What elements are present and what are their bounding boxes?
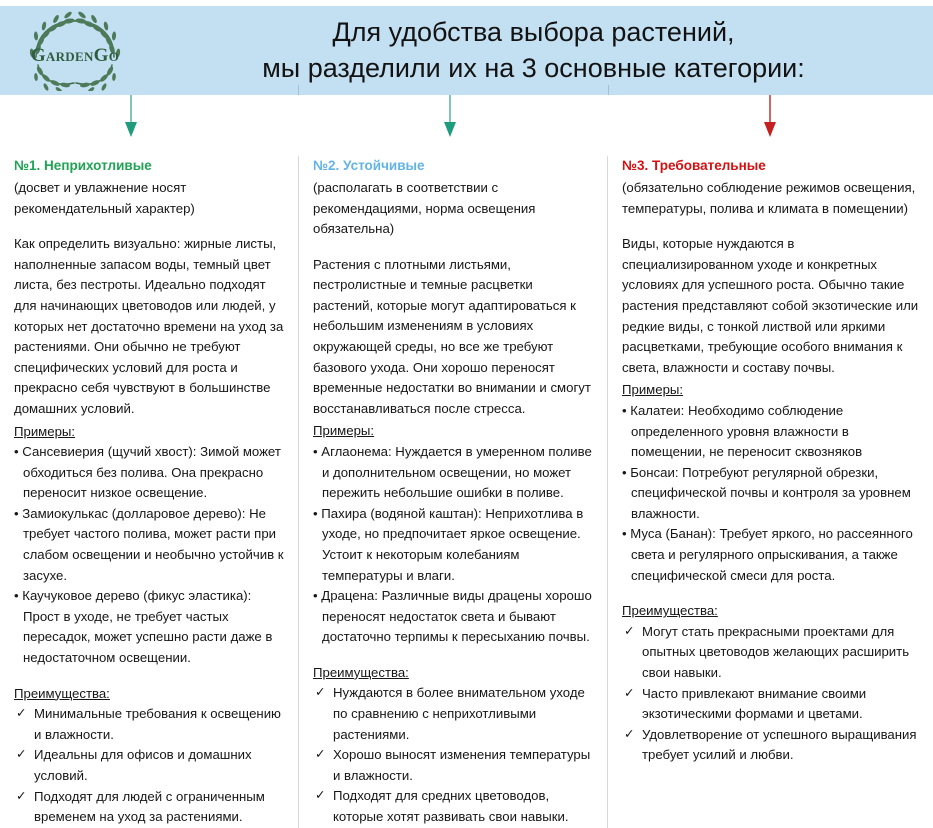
list-item-label: Подходят для средних цветоводов, которые…: [333, 788, 569, 824]
check-icon: ✓: [315, 683, 325, 703]
list-item-label: Подходят для людей с ограниченным времен…: [34, 789, 265, 825]
list-item: ✓Подходят для средних цветоводов, которы…: [313, 786, 593, 827]
category-columns: №1. Неприхотливые (досвет и увлажнение н…: [0, 156, 933, 828]
list-item-label: Хорошо выносят изменения температуры и в…: [333, 747, 590, 783]
list-item: Драцена: Различные виды драцены хорошо п…: [313, 586, 593, 648]
check-icon: ✓: [16, 704, 26, 724]
category-3-advantages: Преимущества: ✓Могут стать прекрасными п…: [622, 601, 919, 766]
check-icon: ✓: [16, 787, 26, 807]
list-item: ✓Минимальные требования к освещению и вл…: [14, 704, 284, 745]
arrow-down-category-2: [437, 95, 463, 140]
page-title-line-2: мы разделили их на 3 основные категории:: [150, 51, 917, 87]
list-item: Замиокулькас (долларовое дерево): Не тре…: [14, 504, 284, 586]
list-item-label: Могут стать прекрасными проектами для оп…: [642, 624, 909, 680]
list-item: Аглаонема: Нуждается в умеренном поливе …: [313, 442, 593, 504]
category-3-description: Виды, которые нуждаются в специализирова…: [622, 234, 919, 378]
list-item-label: Нуждаются в более внимательном уходе по …: [333, 685, 585, 741]
list-item: ✓Подходят для людей с ограниченным време…: [14, 787, 284, 828]
list-item: Бонсаи: Потребуют регулярной обрезки, сп…: [622, 463, 919, 525]
category-2-description: Растения с плотными листьями, пестролист…: [313, 255, 593, 420]
list-item: Муса (Банан): Требует яркого, но рассеян…: [622, 524, 919, 586]
list-item: ✓Удовлетворение от успешного выращивания…: [622, 725, 919, 766]
list-item-label: Удовлетворение от успешного выращивания …: [642, 727, 917, 763]
check-icon: ✓: [16, 745, 26, 765]
list-item: Каучуковое дерево (фикус эластика): Прос…: [14, 586, 284, 668]
list-item: ✓Хорошо выносят изменения температуры и …: [313, 745, 593, 786]
category-2-advantages-label: Преимущества:: [313, 663, 593, 684]
category-3-subtitle: (обязательно соблюдение режимов освещени…: [622, 178, 919, 219]
arrow-down-category-1: [118, 95, 144, 140]
band-divider-tick-2: [608, 85, 609, 95]
category-2-advantages-list: ✓Нуждаются в более внимательном уходе по…: [313, 683, 593, 827]
header-banner: GardenGo Для удобства выбора растений, м…: [0, 6, 933, 95]
category-1-examples-label: Примеры:: [14, 422, 284, 443]
list-item-label: Идеальны для офисов и домашних условий.: [34, 747, 252, 783]
check-icon: ✓: [624, 725, 634, 745]
category-1-advantages-label: Преимущества:: [14, 684, 284, 705]
page-title-line-1: Для удобства выбора растений,: [150, 15, 917, 51]
category-arrows: [0, 95, 933, 150]
check-icon: ✓: [624, 622, 634, 642]
category-column-1: №1. Неприхотливые (досвет и увлажнение н…: [0, 156, 298, 828]
band-divider-tick-1: [298, 85, 299, 95]
category-3-advantages-list: ✓Могут стать прекрасными проектами для о…: [622, 622, 919, 766]
list-item: ✓Идеальны для офисов и домашних условий.: [14, 745, 284, 786]
category-2-advantages: Преимущества: ✓Нуждаются в более внимате…: [313, 663, 593, 828]
category-2-examples-list: Аглаонема: Нуждается в умеренном поливе …: [313, 442, 593, 648]
arrow-down-category-3: [757, 95, 783, 140]
category-column-2: №2. Устойчивые (располагать в соответств…: [298, 156, 608, 828]
category-2-title: №2. Устойчивые: [313, 156, 593, 176]
category-2-subtitle: (располагать в соответствии с рекомендац…: [313, 178, 593, 239]
page-title: Для удобства выбора растений, мы раздели…: [150, 15, 933, 86]
list-item: Калатеи: Необходимо соблюдение определен…: [622, 401, 919, 463]
category-1-description: Как определить визуально: жирные листы, …: [14, 234, 284, 419]
list-item-label: Минимальные требования к освещению и вла…: [34, 706, 281, 742]
list-item: Сансевиерия (щучий хвост): Зимой может о…: [14, 442, 284, 504]
category-3-advantages-label: Преимущества:: [622, 601, 919, 622]
category-3-title: №3. Требовательные: [622, 156, 919, 176]
category-1-advantages-list: ✓Минимальные требования к освещению и вл…: [14, 704, 284, 828]
category-1-subtitle: (досвет и увлажнение носят рекомендатель…: [14, 178, 284, 219]
category-2-examples-label: Примеры:: [313, 421, 593, 442]
category-1-examples-list: Сансевиерия (щучий хвост): Зимой может о…: [14, 442, 284, 669]
check-icon: ✓: [624, 684, 634, 704]
check-icon: ✓: [315, 786, 325, 806]
brand-wordmark: GardenGo: [0, 45, 150, 67]
list-item: ✓Могут стать прекрасными проектами для о…: [622, 622, 919, 684]
category-3-examples-label: Примеры:: [622, 380, 919, 401]
list-item: ✓Нуждаются в более внимательном уходе по…: [313, 683, 593, 745]
list-item: ✓Часто привлекают внимание своими экзоти…: [622, 684, 919, 725]
category-1-title: №1. Неприхотливые: [14, 156, 284, 176]
check-icon: ✓: [315, 745, 325, 765]
brand-logo[interactable]: GardenGo: [0, 6, 150, 95]
category-1-advantages: Преимущества: ✓Минимальные требования к …: [14, 684, 284, 828]
category-3-examples-list: Калатеи: Необходимо соблюдение определен…: [622, 401, 919, 586]
category-column-3: №3. Требовательные (обязательно соблюден…: [608, 156, 933, 828]
list-item: Пахира (водяной каштан): Неприхотлива в …: [313, 504, 593, 586]
list-item-label: Часто привлекают внимание своими экзотич…: [642, 686, 866, 722]
